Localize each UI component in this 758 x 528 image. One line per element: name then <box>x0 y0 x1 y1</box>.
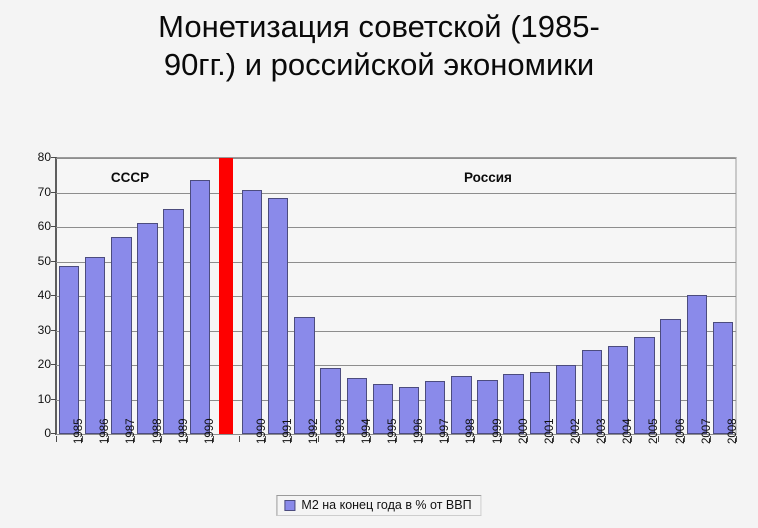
x-axis-tick-label: 1990 <box>257 418 268 444</box>
y-axis-tick-label: 10 <box>17 394 51 404</box>
chart-legend: М2 на конец года в % от ВВП <box>276 495 481 516</box>
bar-chart: 01020304050607080 СССР Россия 1985198619… <box>14 146 744 518</box>
bar <box>268 198 288 434</box>
x-axis-tick-mark <box>161 436 162 442</box>
x-axis-tick-label: 1996 <box>414 418 425 444</box>
x-axis-tick-mark <box>422 436 423 442</box>
x-axis-tick-label: 1986 <box>100 418 111 444</box>
gridline <box>56 331 736 332</box>
y-axis-tick-label: 80 <box>17 152 51 162</box>
x-axis-tick-mark <box>527 436 528 442</box>
x-axis-tick-mark <box>108 436 109 442</box>
x-axis-tick-mark <box>344 436 345 442</box>
gridline <box>56 262 736 263</box>
x-axis-tick-mark <box>553 436 554 442</box>
x-axis-tick-mark <box>82 436 83 442</box>
y-axis: 01020304050607080 <box>14 146 51 446</box>
x-axis-tick-label: 1999 <box>493 418 504 444</box>
x-axis-tick-mark <box>396 436 397 442</box>
bar <box>190 180 210 434</box>
x-axis-tick-mark <box>370 436 371 442</box>
x-axis-tick-label: 1998 <box>466 418 477 444</box>
x-axis-tick-mark <box>474 436 475 442</box>
x-axis-tick-mark <box>239 436 240 442</box>
bar <box>137 223 157 434</box>
plot-area <box>56 158 736 434</box>
x-axis-tick-label: 2006 <box>676 418 687 444</box>
y-axis-tick-label: 30 <box>17 325 51 335</box>
x-axis-tick-label: 1991 <box>283 418 294 444</box>
bar <box>713 322 733 434</box>
x-axis-tick-label: 2002 <box>571 418 582 444</box>
y-axis-tick-label: 60 <box>17 221 51 231</box>
y-axis-tick-label: 0 <box>17 428 51 438</box>
x-axis-tick-label: 2000 <box>519 418 530 444</box>
x-axis-tick-mark <box>736 436 737 442</box>
bar <box>111 237 131 434</box>
bar <box>163 209 183 434</box>
x-axis-tick-label: 2008 <box>728 418 739 444</box>
x-axis-tick-label: 1989 <box>179 418 190 444</box>
x-axis-tick-label: 2001 <box>545 418 556 444</box>
x-axis-tick-mark <box>501 436 502 442</box>
gridline <box>56 227 736 228</box>
x-axis-tick-mark <box>291 436 292 442</box>
x-axis-tick-label: 1995 <box>388 418 399 444</box>
x-axis-tick-mark <box>134 436 135 442</box>
x-axis-tick-label: 2004 <box>623 418 634 444</box>
page-title: Монетизация советской (1985- 90гг.) и ро… <box>0 8 758 84</box>
y-axis-tick-label: 40 <box>17 290 51 300</box>
bar <box>242 190 262 434</box>
x-axis-tick-mark <box>658 436 659 442</box>
separator-band <box>219 158 233 434</box>
x-axis-tick-mark <box>684 436 685 442</box>
x-axis-tick-label: 1987 <box>126 418 137 444</box>
bar <box>687 295 707 434</box>
legend-label: М2 на конец года в % от ВВП <box>301 498 471 512</box>
x-axis-tick-label: 2003 <box>597 418 608 444</box>
x-axis-tick-mark <box>710 436 711 442</box>
x-axis-tick-label: 1990 <box>205 418 216 444</box>
gridline <box>56 296 736 297</box>
annotation-russia: Россия <box>464 170 512 185</box>
x-axis-tick-label: 1994 <box>362 418 373 444</box>
page-title-line-1: Монетизация советской (1985- <box>0 8 758 46</box>
gridline <box>56 158 736 159</box>
bar <box>59 266 79 434</box>
x-axis-tick-mark <box>631 436 632 442</box>
y-axis-tick-label: 70 <box>17 187 51 197</box>
x-axis-tick-label: 1985 <box>74 418 85 444</box>
annotation-ussr: СССР <box>111 170 149 185</box>
bar <box>85 257 105 434</box>
x-axis-tick-mark <box>187 436 188 442</box>
x-axis-tick-label: 2005 <box>649 418 660 444</box>
x-axis-tick-mark <box>579 436 580 442</box>
x-axis-tick-label: 1997 <box>440 418 451 444</box>
x-axis-tick-label: 1988 <box>153 418 164 444</box>
x-axis-tick-mark <box>265 436 266 442</box>
x-axis-tick-mark <box>448 436 449 442</box>
legend-swatch-icon <box>284 500 295 511</box>
x-axis-tick-label: 1993 <box>336 418 347 444</box>
y-axis-tick-label: 50 <box>17 256 51 266</box>
x-axis-tick-label: 1992 <box>309 418 320 444</box>
y-axis-tick-label: 20 <box>17 359 51 369</box>
page-title-line-2: 90гг.) и российской экономики <box>0 46 758 84</box>
x-axis-tick-mark <box>213 436 214 442</box>
x-axis-tick-label: 2007 <box>702 418 713 444</box>
x-axis-tick-mark <box>318 436 319 442</box>
bar <box>294 317 314 434</box>
x-axis-tick-mark <box>56 436 57 442</box>
bar <box>660 319 680 434</box>
gridline <box>56 193 736 194</box>
x-axis-tick-mark <box>605 436 606 442</box>
